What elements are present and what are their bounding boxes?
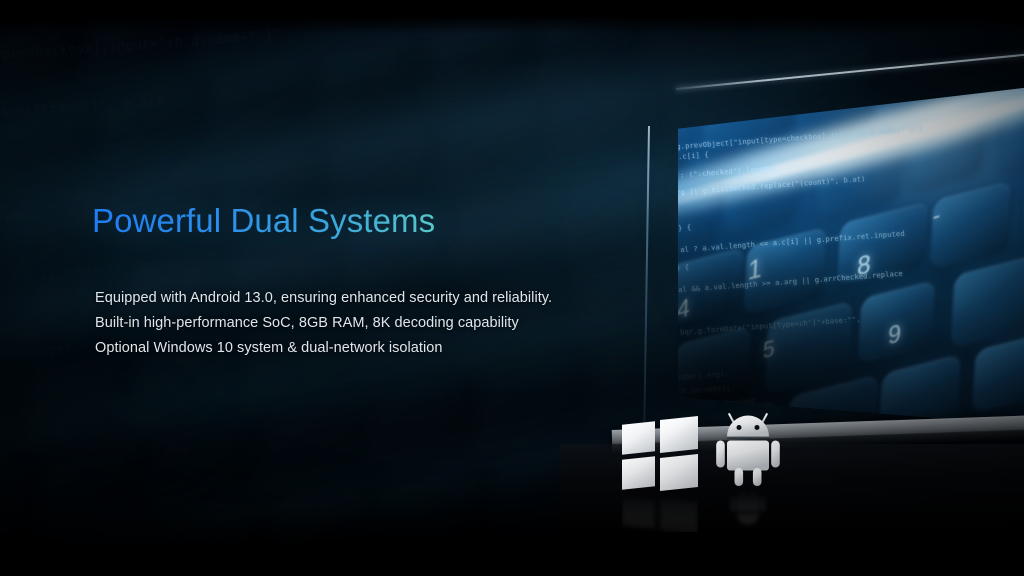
list-item: Built-in high-performance SoC, 8GB RAM, … [95, 311, 612, 336]
slide-root: ype=checkbox],input="+b.d.name+"']"lace(… [0, 0, 1024, 576]
list-item: Equipped with Android 13.0, ensuring enh… [95, 286, 612, 311]
feature-bullet-list: Equipped with Android 13.0, ensuring enh… [95, 286, 612, 361]
top-letterbox-band [0, 0, 1024, 34]
list-item: Optional Windows 10 system & dual-networ… [95, 336, 612, 361]
bottom-letterbox-band [0, 506, 1024, 576]
copy-block: Powerful Dual Systems Equipped with Andr… [92, 202, 612, 361]
page-title: Powerful Dual Systems [92, 202, 612, 241]
